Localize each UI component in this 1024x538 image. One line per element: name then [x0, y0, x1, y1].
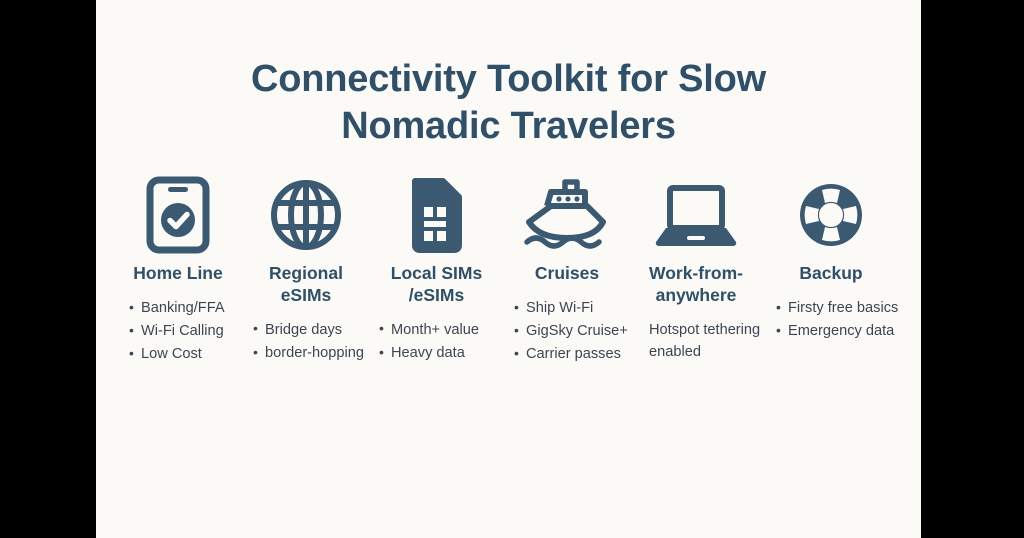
letterbox-bar-right [921, 0, 1024, 538]
letterbox-bar-left [0, 0, 96, 538]
title-line-1: Connectivity Toolkit for Slow [189, 56, 829, 103]
column-heading: Work-from- anywhere [649, 263, 743, 307]
phone-check-icon [145, 176, 211, 254]
sim-card-icon [407, 176, 467, 254]
title-line-2: Nomadic Travelers [189, 103, 829, 150]
column-heading: Local SIMs /eSIMs [391, 263, 482, 307]
cruise-ship-icon [521, 176, 613, 254]
column-bullet-list: Firsty free basics Emergency data [761, 297, 901, 343]
globe-icon [270, 176, 342, 254]
list-item: Firsty free basics [775, 297, 901, 319]
column-bullet-list: Ship Wi-Fi GigSky Cruise+ Carrier passes [503, 297, 631, 367]
list-item: Month+ value [378, 319, 503, 341]
list-item: Banking/FFA [128, 297, 242, 319]
column-work-from-anywhere: Work-from- anywhere Hotspot tethering en… [631, 176, 761, 364]
column-bullet-list: Hotspot tethering enabled [631, 319, 761, 364]
column-heading: Cruises [535, 263, 599, 285]
infographic-canvas: Connectivity Toolkit for Slow Nomadic Tr… [96, 0, 921, 538]
list-item: Low Cost [128, 343, 242, 365]
list-item: Ship Wi-Fi [513, 297, 631, 319]
column-heading: Backup [799, 263, 862, 285]
list-item: Bridge days [252, 319, 370, 341]
list-item: Carrier passes [513, 343, 631, 365]
column-bullet-list: Month+ value Heavy data [370, 319, 503, 365]
list-item: GigSky Cruise+ [513, 320, 631, 342]
column-heading: Regional eSIMs [269, 263, 343, 307]
laptop-icon [652, 176, 740, 254]
list-item: border-hopping [252, 342, 370, 364]
list-item: Wi-Fi Calling [128, 320, 242, 342]
column-cruises: Cruises Ship Wi-Fi GigSky Cruise+ Carrie… [503, 176, 631, 366]
screenshot-stage: Connectivity Toolkit for Slow Nomadic Tr… [0, 0, 1024, 538]
list-item: Heavy data [378, 342, 503, 364]
column-local-sims: Local SIMs /eSIMs Month+ value Heavy dat… [370, 176, 503, 365]
column-backup: Backup Firsty free basics Emergency data [761, 176, 901, 343]
toolkit-columns: Home Line Banking/FFA Wi-Fi Calling Low … [96, 176, 921, 366]
lifebuoy-icon [794, 176, 868, 254]
page-title: Connectivity Toolkit for Slow Nomadic Tr… [189, 56, 829, 150]
column-bullet-list: Banking/FFA Wi-Fi Calling Low Cost [114, 297, 242, 367]
list-item: Emergency data [775, 320, 901, 342]
column-regional-esims: Regional eSIMs Bridge days border-hoppin… [242, 176, 370, 365]
column-bullet-list: Bridge days border-hopping [242, 319, 370, 365]
column-heading: Home Line [133, 263, 222, 285]
column-home-line: Home Line Banking/FFA Wi-Fi Calling Low … [114, 176, 242, 366]
list-item: Hotspot tethering enabled [645, 319, 761, 363]
